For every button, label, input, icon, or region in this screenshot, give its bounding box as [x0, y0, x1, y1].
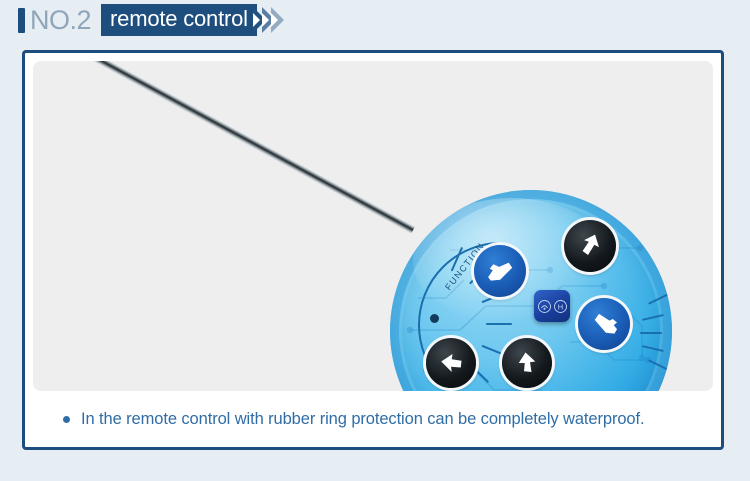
- remote-control-device: FUNCTION: [390, 190, 672, 391]
- arrow-up-icon: [512, 348, 542, 378]
- scale-tick: [648, 293, 669, 304]
- scale-tick: [642, 345, 664, 352]
- scale-tick: [648, 359, 669, 370]
- status-led-icon: [430, 314, 439, 323]
- content-frame: FUNCTION: [22, 50, 724, 450]
- photo-scene: FUNCTION: [33, 61, 713, 391]
- header-number: NO.2: [30, 7, 91, 34]
- antenna-rod-icon: [86, 61, 415, 234]
- header-chevrons: [257, 7, 284, 33]
- signal-waterproof-icon: [537, 299, 552, 314]
- boat-left-button[interactable]: [474, 245, 526, 297]
- header-accent-bar: [18, 8, 25, 33]
- boat-right-button[interactable]: [578, 298, 630, 350]
- dial-tick: [486, 323, 512, 325]
- product-photo: FUNCTION: [33, 61, 713, 391]
- arrow-up-right-button[interactable]: [564, 220, 616, 272]
- boat-right-icon: [587, 307, 621, 341]
- boat-left-icon: [483, 254, 517, 288]
- svg-text:H: H: [557, 302, 562, 311]
- header-badge: remote control: [101, 4, 257, 36]
- chevron-right-icon: [271, 7, 284, 33]
- arrow-left-button[interactable]: [426, 338, 476, 388]
- caption-text: In the remote control with rubber ring p…: [81, 409, 644, 429]
- mode-center-button[interactable]: H: [534, 290, 570, 322]
- scale-tick: [642, 314, 664, 321]
- arrow-up-button[interactable]: [502, 338, 552, 388]
- scale-tick: [640, 332, 662, 334]
- bullet-dot-icon: [63, 416, 70, 423]
- caption-row: In the remote control with rubber ring p…: [25, 391, 721, 447]
- arrow-up-right-icon: [574, 230, 605, 261]
- arrow-left-icon: [436, 348, 466, 378]
- waterproof-badge-icon: H: [553, 299, 568, 314]
- section-header: NO.2 remote control: [0, 0, 750, 40]
